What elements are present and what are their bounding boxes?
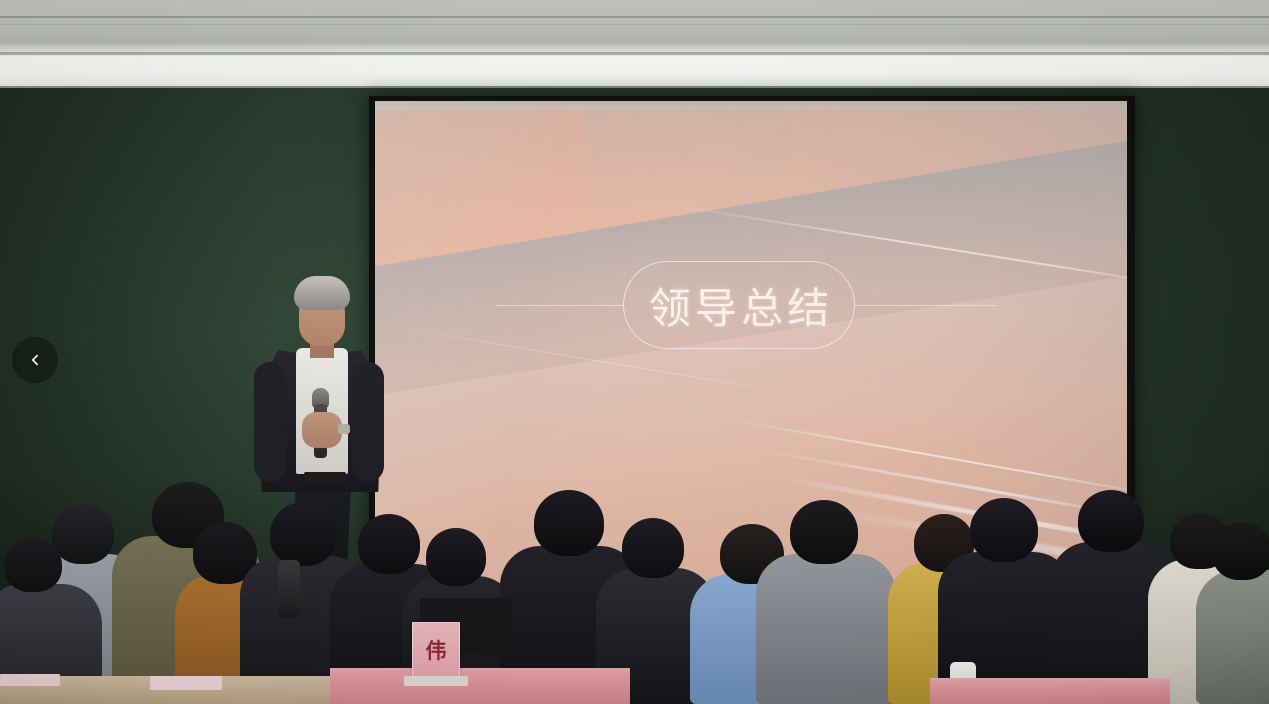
audience-head bbox=[4, 538, 62, 592]
audience-head bbox=[270, 502, 336, 566]
thermos-bottle bbox=[278, 560, 300, 618]
ceiling-seam bbox=[0, 52, 1269, 55]
slide-title-rule-right bbox=[855, 305, 997, 306]
name-card-base bbox=[404, 676, 468, 686]
slide-title: 领导总结 bbox=[645, 275, 834, 336]
audience-head bbox=[970, 498, 1038, 562]
ceiling-seam bbox=[0, 16, 1269, 18]
ceiling-light-strip bbox=[0, 56, 1269, 86]
audience-group: 伟 bbox=[0, 444, 1269, 704]
audience-head bbox=[790, 500, 858, 564]
paper-sheet bbox=[0, 674, 60, 686]
audience-person bbox=[1196, 514, 1269, 704]
audience-head bbox=[426, 528, 486, 586]
desk-right bbox=[930, 678, 1170, 704]
name-card: 伟 bbox=[412, 622, 460, 678]
speaker-watch bbox=[338, 424, 350, 434]
audience-head bbox=[1212, 522, 1269, 580]
audience-head bbox=[534, 490, 604, 556]
speaker-hair bbox=[294, 276, 350, 310]
photo-canvas: 领导总结 bbox=[0, 0, 1269, 704]
audience-head bbox=[1078, 490, 1144, 552]
slide-title-pill: 领导总结 bbox=[623, 261, 855, 349]
name-card-text: 伟 bbox=[426, 635, 447, 665]
chevron-left-icon bbox=[26, 351, 44, 369]
audience-person bbox=[756, 490, 896, 704]
audience-body bbox=[756, 554, 896, 704]
audience-body bbox=[1196, 570, 1269, 704]
speaker-hands bbox=[302, 412, 342, 448]
ceiling bbox=[0, 0, 1269, 92]
prev-slide-button[interactable] bbox=[12, 337, 58, 383]
audience-head bbox=[622, 518, 684, 578]
ceiling-seam bbox=[0, 24, 1269, 25]
desk-front bbox=[330, 668, 630, 704]
paper-sheet bbox=[150, 676, 222, 690]
slide-title-rule-left bbox=[495, 305, 623, 306]
